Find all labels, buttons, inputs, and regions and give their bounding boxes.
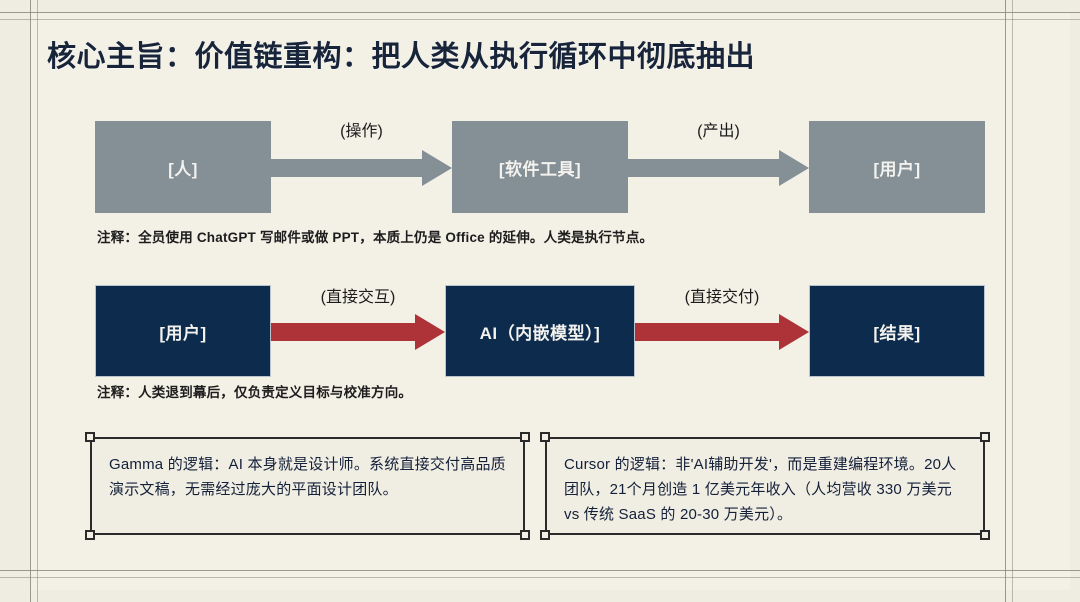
- guide-horizontal-top-inner[interactable]: [0, 19, 1080, 20]
- guide-horizontal-bottom[interactable]: [0, 570, 1080, 571]
- editor-canvas: 核心主旨：价值链重构：把人类从执行循环中彻底抽出 [人] (操作) [软件工具]…: [0, 0, 1080, 602]
- flow-node-user[interactable]: [用户]: [809, 121, 985, 213]
- resize-handle-top-right[interactable]: [520, 432, 530, 442]
- arrow-head-icon: [422, 150, 452, 186]
- flow-node-label: [结果]: [873, 319, 920, 344]
- flow-node-label: AI（内嵌模型）]: [480, 319, 601, 344]
- flow-node-user-native[interactable]: [用户]: [95, 285, 271, 377]
- guide-horizontal-top[interactable]: [0, 12, 1080, 13]
- flow-node-label: [人]: [168, 155, 198, 180]
- resize-handle-top-left[interactable]: [85, 432, 95, 442]
- flow-node-label: [用户]: [159, 319, 206, 344]
- arrow-head-icon: [779, 150, 809, 186]
- flow-arrow-label: (操作): [271, 117, 452, 141]
- flow-arrow-label: (产出): [628, 117, 809, 141]
- arrow-shaft: [271, 159, 422, 177]
- flow-arrow-output: (产出): [628, 159, 809, 177]
- guide-vertical-right-outer[interactable]: [1005, 0, 1006, 602]
- resize-handle-bottom-right[interactable]: [980, 530, 990, 540]
- flow-arrow-label: (直接交互): [271, 283, 445, 307]
- flow-arrow-direct-interaction: (直接交互): [271, 323, 445, 341]
- resize-handle-top-right[interactable]: [980, 432, 990, 442]
- card-cursor[interactable]: Cursor 的逻辑：非'AI辅助开发'，而是重建编程环境。20人团队，21个月…: [545, 437, 985, 535]
- flow-arrow-direct-delivery: (直接交付): [635, 323, 809, 341]
- flow-arrow-label: (直接交付): [635, 283, 809, 307]
- flow-node-software-tool[interactable]: [软件工具]: [452, 121, 628, 213]
- resize-handle-bottom-left[interactable]: [540, 530, 550, 540]
- flow-arrow-operate: (操作): [271, 159, 452, 177]
- flow-node-label: [软件工具]: [499, 155, 581, 180]
- guide-vertical-right-inner[interactable]: [1012, 0, 1013, 602]
- card-text: Cursor 的逻辑：非'AI辅助开发'，而是重建编程环境。20人团队，21个月…: [564, 452, 966, 527]
- arrow-shaft: [635, 323, 779, 341]
- page-title[interactable]: 核心主旨：价值链重构：把人类从执行循环中彻底抽出: [47, 34, 1007, 82]
- guide-horizontal-bottom-inner[interactable]: [0, 577, 1080, 578]
- guide-vertical-left-inner[interactable]: [37, 0, 38, 602]
- flow-legacy[interactable]: [人] (操作) [软件工具] (产出) [用户]: [95, 121, 985, 213]
- page-title-text: 核心主旨：价值链重构：把人类从执行循环中彻底抽出: [47, 34, 1007, 80]
- arrow-shaft: [271, 323, 415, 341]
- flow-node-human[interactable]: [人]: [95, 121, 271, 213]
- arrow-head-icon: [415, 314, 445, 350]
- card-gamma[interactable]: Gamma 的逻辑：AI 本身就是设计师。系统直接交付高品质演示文稿，无需经过庞…: [90, 437, 525, 535]
- guide-vertical-left-outer[interactable]: [30, 0, 31, 602]
- flow-note-ai-native: 注释：人类退到幕后，仅负责定义目标与校准方向。: [97, 381, 412, 401]
- flow-ai-native[interactable]: [用户] (直接交互) AI（内嵌模型）] (直接交付) [结果]: [95, 285, 985, 377]
- flow-node-label: [用户]: [873, 155, 920, 180]
- flow-note-legacy: 注释：全员使用 ChatGPT 写邮件或做 PPT，本质上仍是 Office 的…: [97, 226, 653, 246]
- resize-handle-top-left[interactable]: [540, 432, 550, 442]
- resize-handle-bottom-left[interactable]: [85, 530, 95, 540]
- arrow-shaft: [628, 159, 779, 177]
- card-text: Gamma 的逻辑：AI 本身就是设计师。系统直接交付高品质演示文稿，无需经过庞…: [109, 452, 506, 502]
- resize-handle-bottom-right[interactable]: [520, 530, 530, 540]
- arrow-head-icon: [779, 314, 809, 350]
- flow-node-result[interactable]: [结果]: [809, 285, 985, 377]
- flow-node-ai-embedded-model[interactable]: AI（内嵌模型）]: [445, 285, 635, 377]
